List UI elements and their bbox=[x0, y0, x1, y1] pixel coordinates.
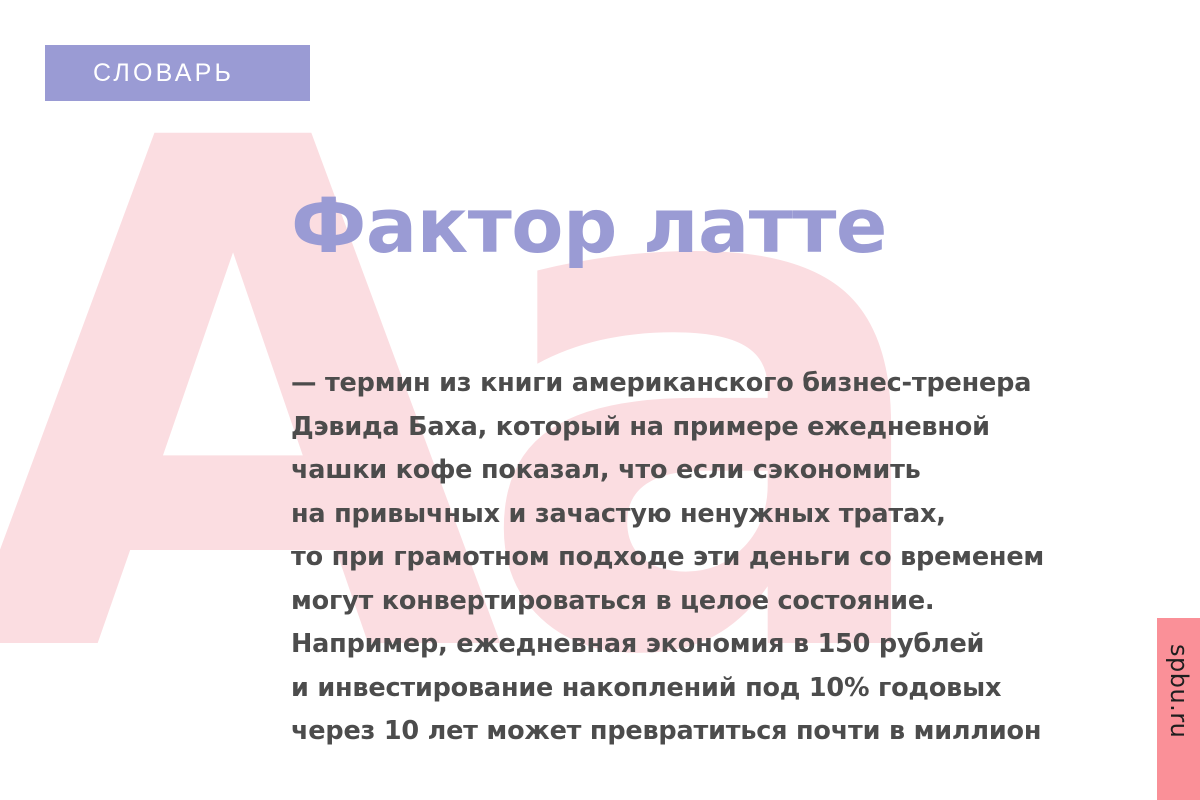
slide-canvas: Aa СЛОВАРЬ Фактор латте — термин из книг… bbox=[0, 0, 1200, 800]
site-url-label: spbu.ru bbox=[1165, 644, 1193, 738]
category-badge-label: СЛОВАРЬ bbox=[45, 59, 234, 88]
definition-line: могут конвертироваться в целое состояние… bbox=[291, 580, 1171, 624]
site-url-tag[interactable]: spbu.ru bbox=[1157, 618, 1200, 800]
definition-line: — термин из книги американского бизнес-т… bbox=[291, 362, 1171, 406]
definition-line: через 10 лет может превратиться почти в … bbox=[291, 710, 1171, 754]
definition-line: чашки кофе показал, что если сэкономить bbox=[291, 449, 1171, 493]
definition-line: и инвестирование накоплений под 10% годо… bbox=[291, 667, 1171, 711]
definition-line: Дэвида Баха, который на примере ежедневн… bbox=[291, 406, 1171, 450]
category-badge[interactable]: СЛОВАРЬ bbox=[45, 45, 310, 101]
definition-line: то при грамотном подходе эти деньги со в… bbox=[291, 536, 1171, 580]
definition-line: Например, ежедневная экономия в 150 рубл… bbox=[291, 623, 1171, 667]
definition-line: на привычных и зачастую ненужных тратах, bbox=[291, 493, 1171, 537]
page-title: Фактор латте bbox=[291, 178, 887, 274]
definition-text: — термин из книги американского бизнес-т… bbox=[291, 362, 1171, 754]
